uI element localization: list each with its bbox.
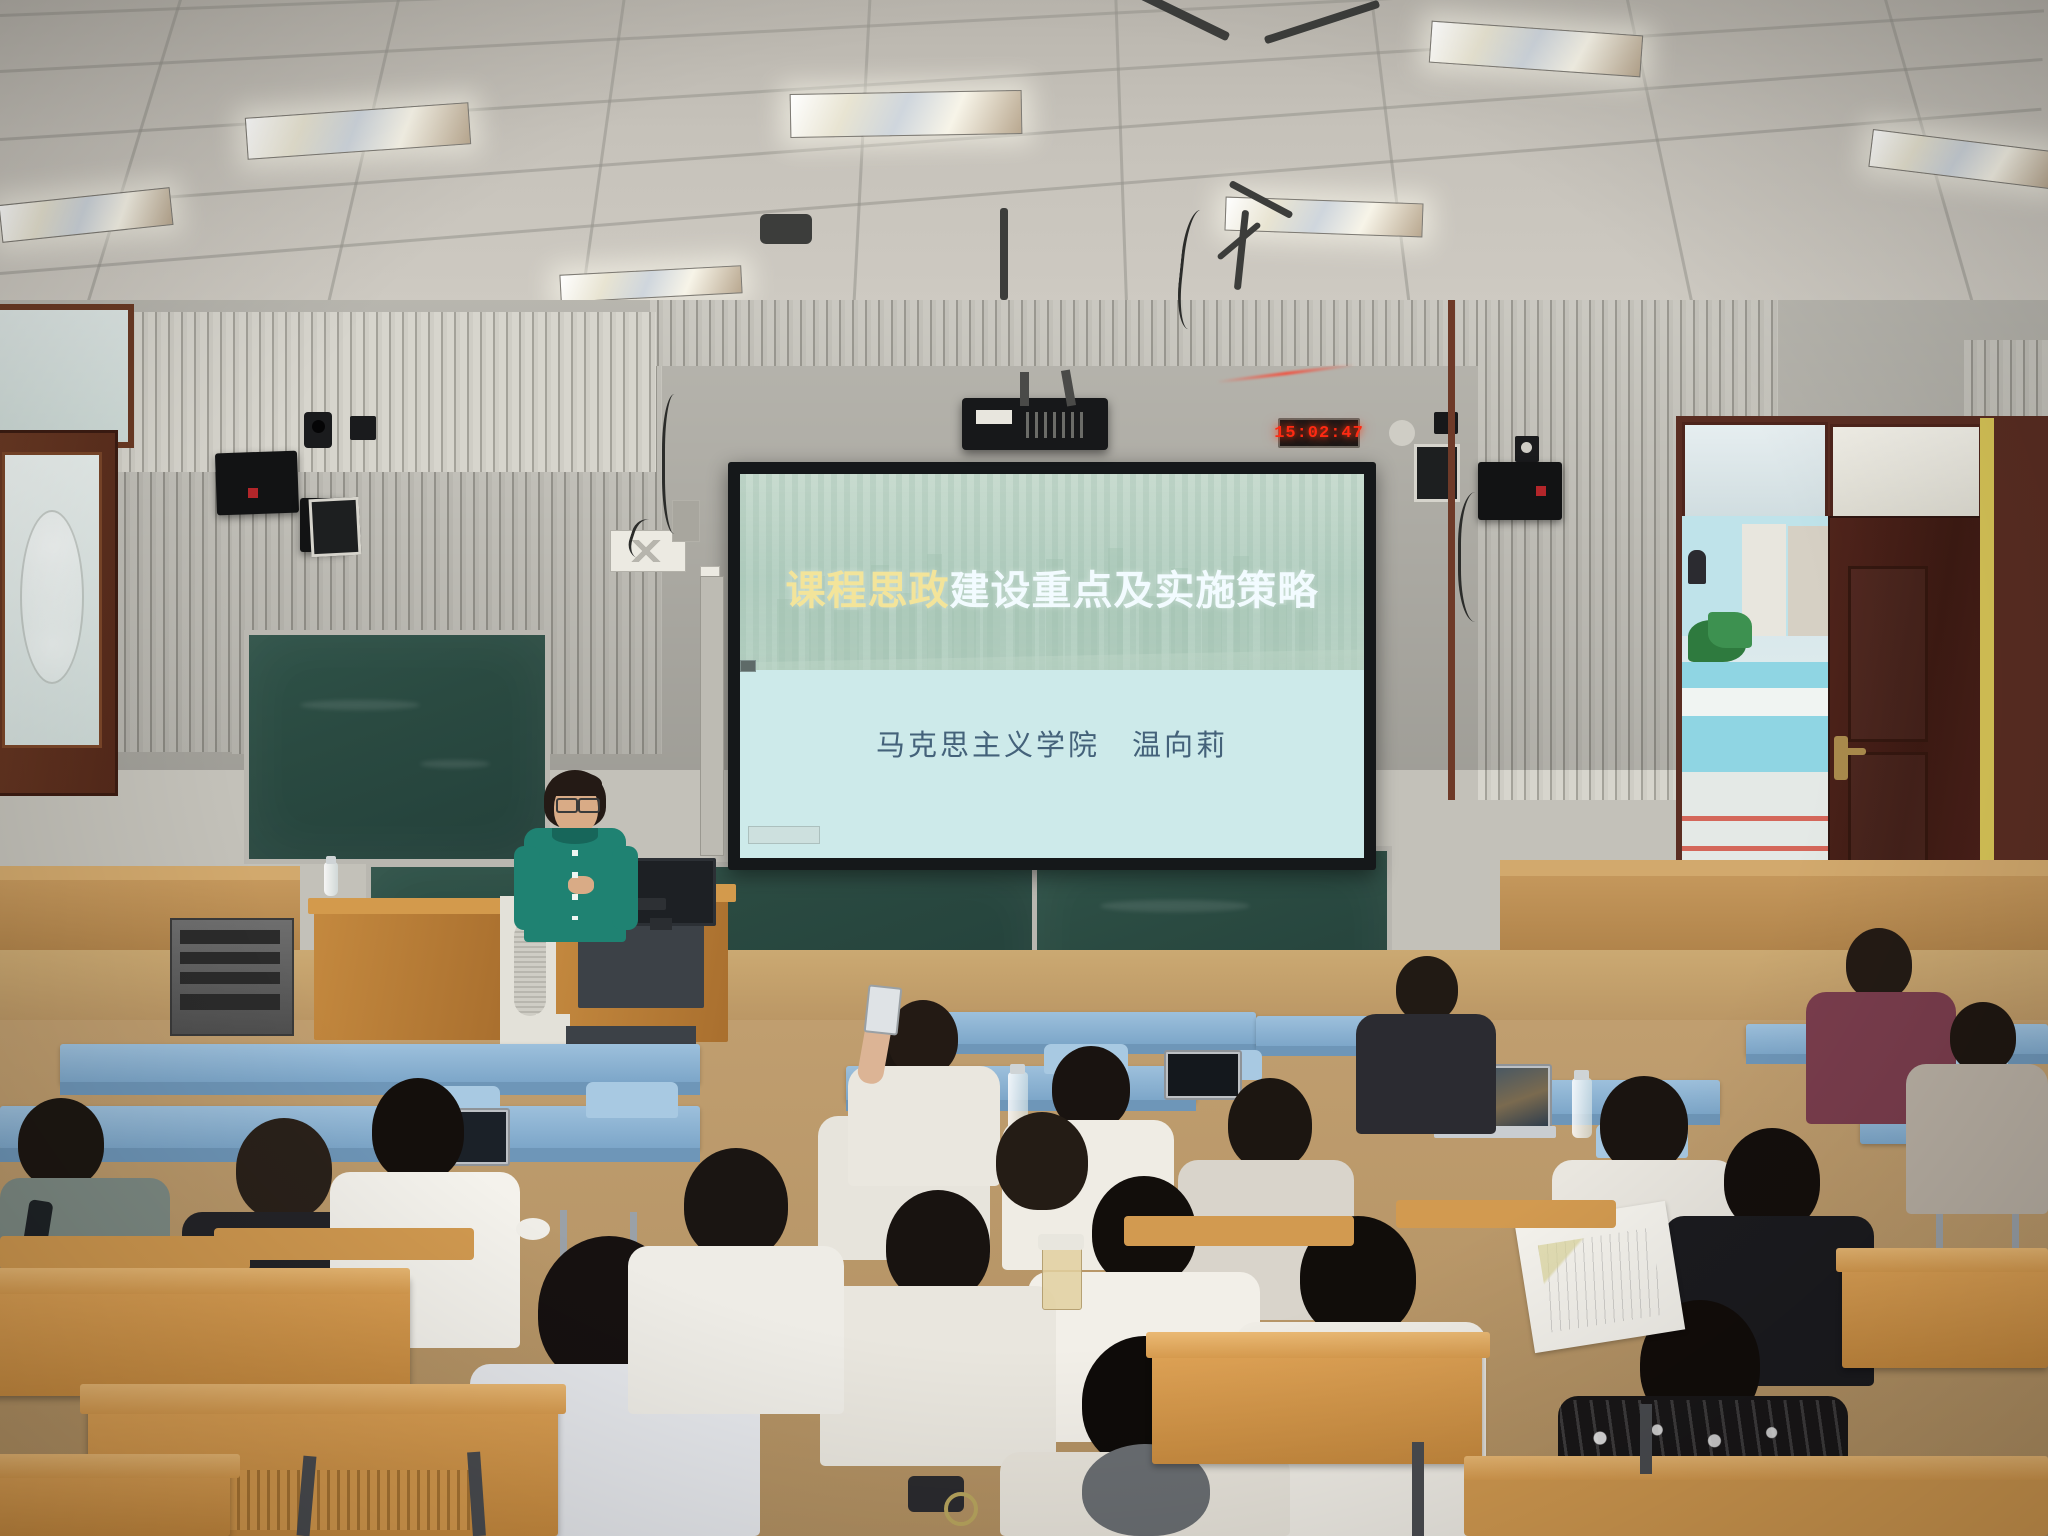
audience-head xyxy=(372,1078,464,1182)
presenter-arm-right xyxy=(612,846,638,930)
ceiling-light-panel xyxy=(790,90,1023,138)
speaker-logo-right xyxy=(1536,486,1546,496)
corridor-counter xyxy=(1682,662,1828,688)
computer-mouse[interactable] xyxy=(516,1218,550,1240)
slide-title-rest: 建设重点及实施策略 xyxy=(950,569,1319,613)
stage-platform-left-top xyxy=(0,866,300,880)
transom-window-left xyxy=(1682,422,1828,520)
water-bottle xyxy=(1572,1078,1592,1138)
slatted-wall-left-upper xyxy=(96,312,656,472)
lecture-hall-photo: 课程思政建设重点及实施策略 马克思主义学院 温向莉 xyxy=(0,0,2048,1536)
wooden-desk-top xyxy=(80,1384,566,1414)
led-wall-clock: 15:02:47 xyxy=(1278,418,1360,448)
wooden-desk-top xyxy=(0,1268,410,1294)
slide-edge-marker xyxy=(740,660,756,672)
audience-torso xyxy=(820,1286,1056,1466)
audience-torso xyxy=(1356,1014,1496,1134)
slide-subtitle: 马克思主义学院 温向莉 xyxy=(740,722,1364,764)
door-lever[interactable] xyxy=(1842,748,1866,755)
water-bottle-podium xyxy=(324,862,338,896)
projector-mount-arm xyxy=(1020,372,1029,406)
audience-head xyxy=(996,1112,1088,1210)
wooden-bench-top xyxy=(1464,1456,2048,1480)
presenter-glasses-2 xyxy=(578,798,600,813)
wall-panel-left xyxy=(309,497,362,558)
clock-time: 15:02:47 xyxy=(1274,424,1364,443)
slide-taskbar-sliver xyxy=(748,826,820,844)
audience-head xyxy=(1228,1078,1312,1170)
ceiling-tile-grid xyxy=(0,0,2048,330)
audience-head xyxy=(1846,928,1912,1000)
audience-torso xyxy=(628,1246,844,1414)
wooden-desk-top xyxy=(1836,1248,2048,1272)
wooden-desk xyxy=(1842,1258,2048,1368)
presenter-arm-left xyxy=(514,846,540,930)
door-handle[interactable] xyxy=(1834,736,1848,780)
blue-chair[interactable] xyxy=(586,1082,678,1118)
wall-cable-right xyxy=(1458,492,1501,622)
key-ring xyxy=(944,1492,978,1526)
audience-head xyxy=(1950,1002,2016,1072)
wall-camera-left-2 xyxy=(350,416,376,440)
wooden-desk-top xyxy=(0,1454,240,1478)
wooden-bench xyxy=(214,1228,474,1260)
blue-table xyxy=(936,1012,1256,1046)
wall-camera-right xyxy=(1389,420,1415,446)
audience-head xyxy=(18,1098,104,1188)
wooden-desk-top xyxy=(1146,1332,1490,1358)
slide-lower-band xyxy=(740,670,1364,858)
blue-table xyxy=(60,1044,700,1084)
presenter-hair-front xyxy=(550,772,602,796)
audience-head xyxy=(1396,956,1458,1022)
door-panel-lower xyxy=(1848,752,1928,868)
presenter-buttons xyxy=(572,850,578,920)
screen-side-rail xyxy=(700,576,724,856)
audience-head xyxy=(684,1148,788,1260)
desk-leg xyxy=(1412,1442,1424,1536)
presenter-collar xyxy=(552,828,598,844)
lectern-side-desk-top xyxy=(308,898,508,914)
transom-window-right xyxy=(1830,424,1982,520)
projection-screen: 课程思政建设重点及实施策略 马克思主义学院 温向莉 xyxy=(740,474,1364,858)
tea-cup xyxy=(1042,1246,1082,1310)
camera-lens-right xyxy=(1521,442,1532,453)
slide-title: 课程思政建设重点及实施策略 xyxy=(740,558,1364,616)
wall-cable-left xyxy=(662,394,693,534)
corridor-person xyxy=(1688,550,1706,584)
door-panel-upper xyxy=(1848,566,1928,742)
left-door-glass-pattern xyxy=(20,510,84,684)
wooden-desk xyxy=(0,1276,410,1396)
speaker-logo-left xyxy=(248,488,258,498)
blackboard-left xyxy=(244,630,550,864)
floor-strip xyxy=(0,950,2048,1020)
audience-head xyxy=(236,1118,332,1220)
projector-hanger-rod xyxy=(1000,208,1008,300)
lectern-side-desk xyxy=(314,904,504,1040)
wooden-bench xyxy=(0,1236,250,1270)
wall-conduit xyxy=(1448,300,1455,800)
left-window xyxy=(0,304,134,448)
audience-head xyxy=(1600,1076,1688,1172)
wooden-bench xyxy=(1396,1200,1616,1228)
stage-platform-right-top xyxy=(1500,860,2048,876)
lectern-monitor-stand xyxy=(650,918,672,930)
door-jamb-stripe xyxy=(1980,418,1994,868)
wooden-desk xyxy=(1152,1344,1482,1464)
desk-leg xyxy=(1640,1404,1652,1474)
presenter-glasses xyxy=(556,798,578,813)
audience-torso xyxy=(848,1066,1000,1186)
corridor-view xyxy=(1682,516,1828,868)
projector-text-mark xyxy=(1026,412,1088,438)
laptop[interactable] xyxy=(1164,1050,1242,1100)
handout-diagram xyxy=(1538,1228,1664,1333)
tea-cup-lid xyxy=(1038,1234,1084,1250)
slide-title-highlight: 课程思政 xyxy=(786,569,950,613)
projector-label xyxy=(976,410,1012,424)
wooden-bench xyxy=(1124,1216,1354,1246)
wall-speaker-left xyxy=(215,451,299,516)
stage-platform-right xyxy=(1500,866,2048,954)
camera-lens-left xyxy=(312,420,325,433)
ceiling-duct xyxy=(760,214,812,244)
audience-torso xyxy=(1906,1064,2048,1214)
smartphone[interactable] xyxy=(864,984,903,1035)
